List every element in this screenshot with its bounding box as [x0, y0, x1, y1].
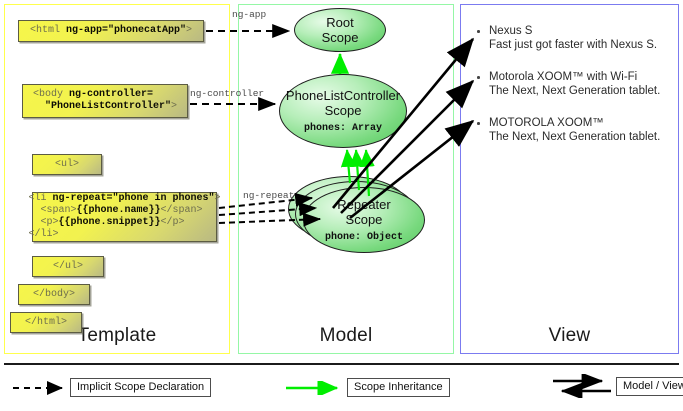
scope-title-line2: Scope — [286, 103, 400, 118]
repeater-scope-ellipse-front: Repeater Scope phone: Object — [303, 187, 425, 253]
scope-title-line2: Scope — [337, 212, 390, 227]
phone-name: Motorola XOOM™ with Wi-Fi — [489, 70, 672, 84]
edge-label-ng-app: ng-app — [232, 9, 266, 20]
dashed-arrow-icon — [12, 381, 70, 395]
code-box-ul-open: <ul> — [32, 154, 102, 175]
code-tag-open: <li — [28, 193, 52, 204]
code-box-body-open: <body ng-controller= "PhoneListControlle… — [22, 84, 188, 118]
code-expr-phone-snippet: {{phone.snippet}} — [59, 217, 161, 228]
legend-divider — [4, 363, 679, 365]
legend-item-implicit: Implicit Scope Declaration — [12, 378, 211, 397]
bullet-icon — [477, 122, 480, 125]
list-item: Nexus S Fast just got faster with Nexus … — [476, 24, 672, 53]
legend-item-inheritance: Scope Inheritance — [285, 378, 450, 397]
code-directive-ng-repeat: ng-repeat="phone in phones" — [52, 193, 214, 204]
legend-label-implicit: Implicit Scope Declaration — [70, 378, 211, 397]
list-item: MOTOROLA XOOM™ The Next, Next Generation… — [476, 116, 672, 145]
scope-title-line1: Root — [322, 15, 359, 30]
phone-name: Nexus S — [489, 24, 672, 38]
phone-snippet: The Next, Next Generation tablet. — [489, 130, 672, 145]
scope-title-line1: PhoneListController — [286, 88, 400, 103]
code-tag-open: <html — [30, 25, 66, 36]
code-tag-open: <body — [33, 89, 69, 100]
view-phone-list: Nexus S Fast just got faster with Nexus … — [476, 24, 672, 162]
green-arrow-icon — [285, 381, 347, 395]
legend-label-inheritance: Scope Inheritance — [347, 378, 450, 397]
scope-property-phones: phones: Array — [304, 123, 382, 134]
legend-item-binding: Model / View Data-binding — [552, 374, 683, 398]
code-controller-name: "PhoneListController" — [45, 101, 171, 112]
code-text: <ul> — [55, 159, 79, 170]
column-label-view: View — [461, 325, 678, 347]
code-span-close: </span> — [161, 205, 203, 216]
code-box-html-close: </html> — [10, 312, 82, 333]
column-label-model: Model — [239, 325, 453, 347]
phone-snippet: Fast just got faster with Nexus S. — [489, 38, 672, 53]
scope-property-phone: phone: Object — [325, 232, 403, 243]
controller-scope-ellipse: PhoneListController Scope phones: Array — [279, 74, 407, 148]
list-item: Motorola XOOM™ with Wi-Fi The Next, Next… — [476, 70, 672, 99]
legend-label-binding: Model / View Data-binding — [616, 377, 683, 396]
phone-name: MOTOROLA XOOM™ — [489, 116, 672, 130]
code-box-li-repeat: <li ng-repeat="phone in phones"> <span>{… — [32, 192, 217, 242]
root-scope-ellipse: Root Scope — [294, 8, 386, 52]
edge-label-ng-controller: ng-controller — [190, 88, 264, 99]
code-p-open: <p> — [40, 217, 58, 228]
code-directive-ng-app: ng-app="phonecatApp" — [66, 25, 186, 36]
scope-title-line2: Scope — [322, 30, 359, 45]
code-directive-ng-controller: ng-controller= — [69, 89, 153, 100]
code-box-body-close: </body> — [18, 284, 90, 305]
phone-snippet: The Next, Next Generation tablet. — [489, 84, 672, 99]
double-arrow-icon — [552, 374, 612, 398]
diagram-canvas: Template Model View <html ng-app="phonec… — [0, 0, 683, 411]
scope-title-line1: Repeater — [337, 197, 390, 212]
code-p-close: </p> — [161, 217, 185, 228]
code-li-close: </li> — [28, 229, 58, 240]
code-text: </body> — [33, 289, 75, 300]
code-tag-close: > — [186, 25, 192, 36]
code-box-html-open: <html ng-app="phonecatApp"> — [18, 20, 204, 42]
code-box-ul-close: </ul> — [32, 256, 104, 277]
code-span-open: <span> — [40, 205, 76, 216]
legend: Implicit Scope Declaration Scope Inherit… — [0, 372, 683, 408]
bullet-icon — [477, 76, 480, 79]
code-tag-close: > — [171, 101, 177, 112]
bullet-icon — [477, 30, 480, 33]
edge-label-ng-repeat: ng-repeat — [243, 190, 294, 201]
code-expr-phone-name: {{phone.name}} — [77, 205, 161, 216]
code-text: </ul> — [53, 261, 83, 272]
code-text: </html> — [25, 317, 67, 328]
code-tag-close: > — [215, 193, 221, 204]
